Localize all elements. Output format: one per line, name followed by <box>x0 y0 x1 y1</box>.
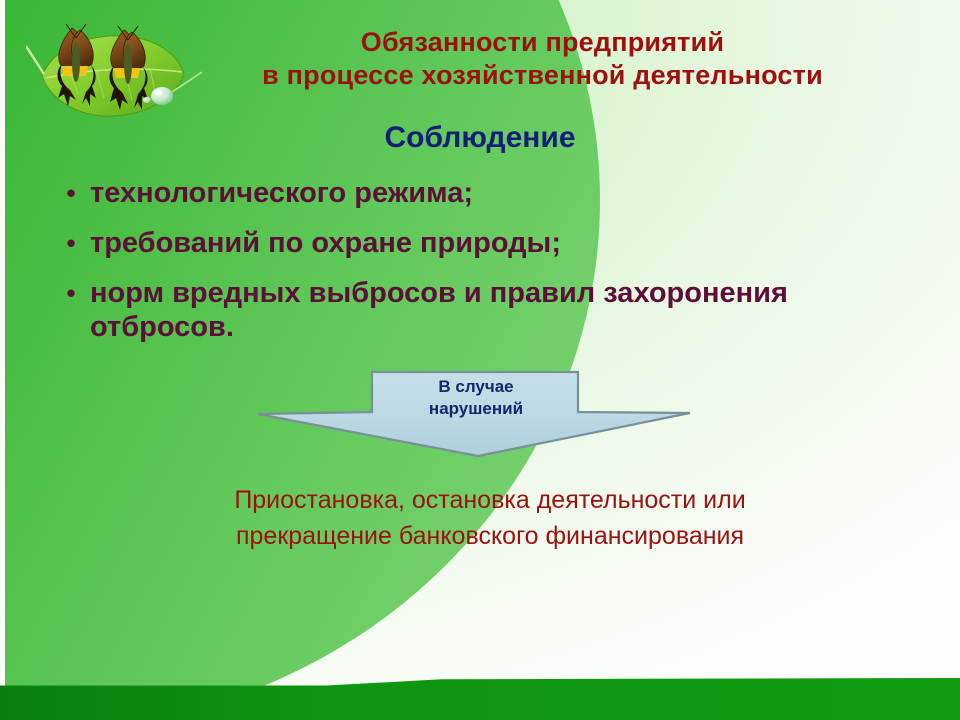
slide-title-line-2: в процессе хозяйственной деятельности <box>205 59 880 92</box>
list-item: • технологического режима; <box>52 176 812 210</box>
list-item: • норм вредных выбросов и правил захорон… <box>52 276 812 344</box>
slide-title-line-1: Обязанности предприятий <box>205 26 880 59</box>
slide-canvas: Обязанности предприятий в процессе хозяй… <box>0 0 960 720</box>
down-arrow-callout: В случае нарушений <box>256 370 694 460</box>
bullet-list: • технологического режима; • требований … <box>52 176 812 360</box>
conclusion-line-2: прекращение банковского финансирования <box>110 518 870 554</box>
list-item-label: требований по охране природы; <box>90 226 812 260</box>
bullet-point-icon: • <box>52 226 90 260</box>
bullet-point-icon: • <box>52 276 90 310</box>
slide-title: Обязанности предприятий в процессе хозяй… <box>205 26 880 92</box>
butterflies-on-leaf-image <box>26 14 202 134</box>
left-white-edge <box>0 0 5 720</box>
list-item-label: норм вредных выбросов и правил захоронен… <box>90 276 812 344</box>
bullet-point-icon: • <box>52 176 90 210</box>
list-item-label: технологического режима; <box>90 176 812 210</box>
list-item: • требований по охране природы; <box>52 226 812 260</box>
slide-subtitle: Соблюдение <box>250 120 710 156</box>
conclusion-text: Приостановка, остановка деятельности или… <box>110 482 870 554</box>
conclusion-line-1: Приостановка, остановка деятельности или <box>110 482 870 518</box>
